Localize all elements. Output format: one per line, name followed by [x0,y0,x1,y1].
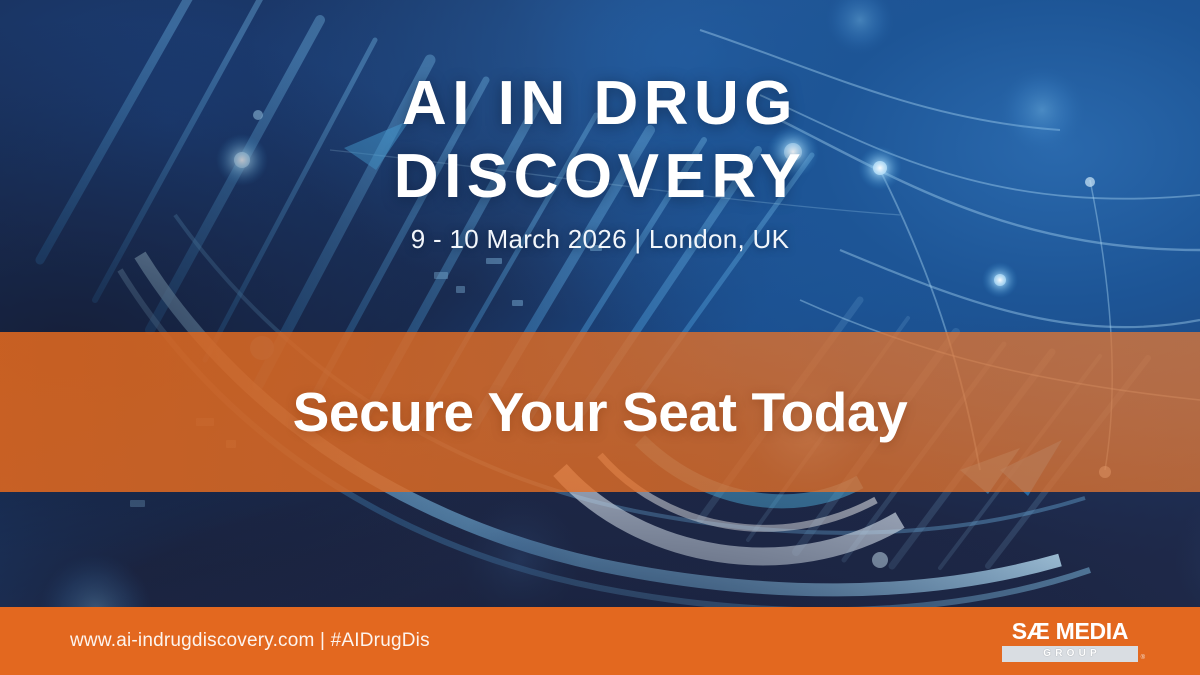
sae-media-group-logo[interactable]: SÆ MEDIA GROUP ® [1002,620,1138,662]
sae-group-label: GROUP [1039,649,1101,659]
event-promo-banner: AI IN DRUG DISCOVERY 9 - 10 March 2026 |… [0,0,1200,675]
footer-bar: www.ai-indrugdiscovery.com | #AIDrugDis … [0,607,1200,675]
website-and-hashtag[interactable]: www.ai-indrugdiscovery.com | #AIDrugDis [70,630,430,652]
sae-group-bar: GROUP ® [1002,646,1138,662]
trademark-icon: ® [1141,655,1145,661]
event-date-location: 9 - 10 March 2026 | London, UK [0,224,1200,255]
sae-media-wordmark: SÆ MEDIA [1002,620,1138,643]
event-title-line-1: AI IN DRUG [0,74,1200,135]
cta-banner[interactable]: Secure Your Seat Today [0,332,1200,492]
event-title-line-2: DISCOVERY [0,147,1200,208]
page-title: AI IN DRUG DISCOVERY 9 - 10 March 2026 |… [0,74,1200,255]
cta-label: Secure Your Seat Today [293,385,908,440]
